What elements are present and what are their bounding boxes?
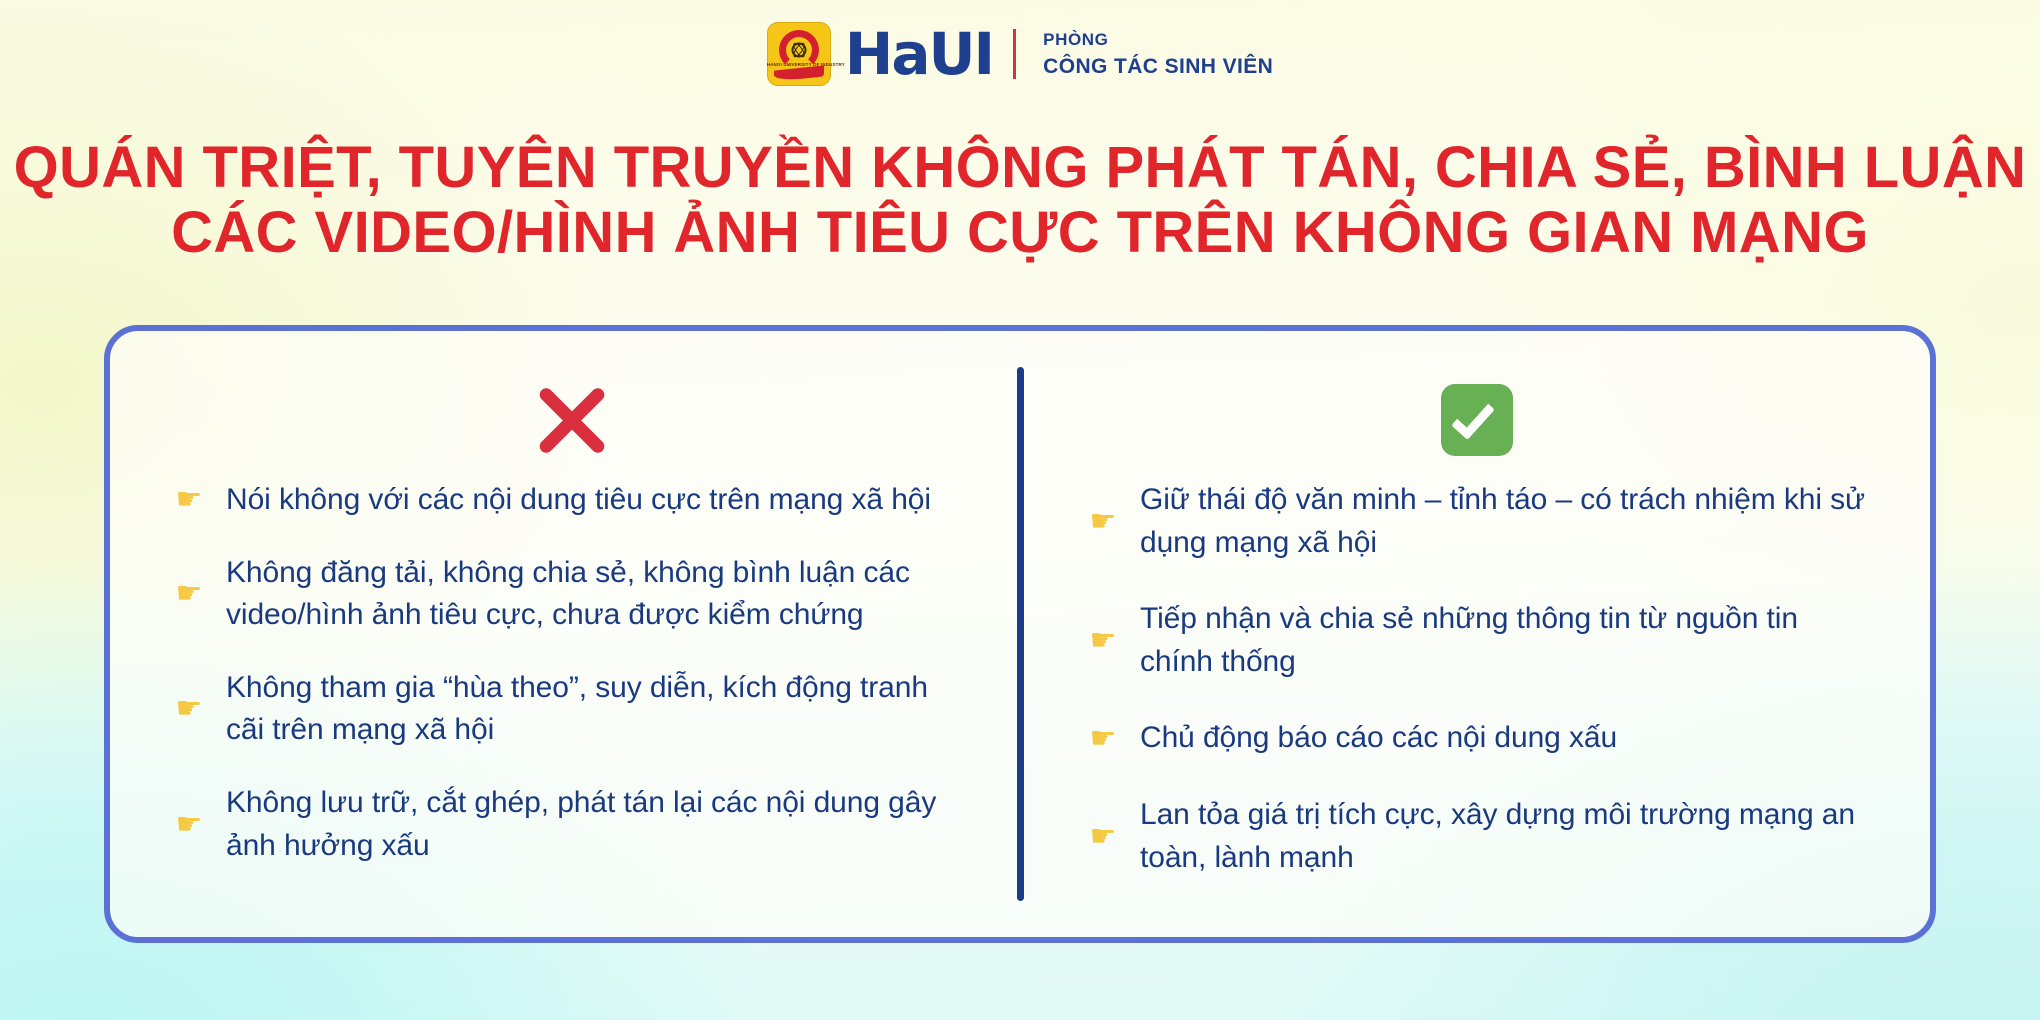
dont-list: ☛ Nói không với các nội dung tiêu cực tr… xyxy=(172,473,972,937)
red-x-icon xyxy=(535,383,609,457)
list-item: ☛ Không tham gia “hùa theo”, suy diễn, k… xyxy=(172,667,972,752)
brand-department: PHÒNG CÔNG TÁC SINH VIÊN xyxy=(1043,30,1273,79)
page-title-line-1: QUÁN TRIỆT, TUYÊN TRUYỀN KHÔNG PHÁT TÁN,… xyxy=(0,136,2040,201)
list-item-text: Lan tỏa giá trị tích cực, xây dựng môi t… xyxy=(1140,794,1868,879)
list-item: ☛ Giữ thái độ văn minh – tỉnh táo – có t… xyxy=(1086,479,1868,564)
list-item: ☛ Không đăng tải, không chia sẻ, không b… xyxy=(172,552,972,637)
dont-column: ☛ Nói không với các nội dung tiêu cực tr… xyxy=(110,331,1020,937)
brand-wordmark: HaUI xyxy=(845,25,993,83)
green-check-icon xyxy=(1441,384,1513,456)
brand-divider xyxy=(1013,29,1016,79)
list-item: ☛ Không lưu trữ, cắt ghép, phát tán lại … xyxy=(172,782,972,867)
dont-badge-row xyxy=(172,367,972,473)
poster-root: HANOI UNIVERSITY OF INDUSTRY HaUI PHÒNG … xyxy=(0,0,2040,1020)
department-line-1: PHÒNG xyxy=(1043,30,1273,50)
do-list: ☛ Giữ thái độ văn minh – tỉnh táo – có t… xyxy=(1086,473,1868,937)
content-card: ☛ Nói không với các nội dung tiêu cực tr… xyxy=(104,325,1936,943)
list-item-text: Nói không với các nội dung tiêu cực trên… xyxy=(226,479,931,522)
pointing-hand-right-icon: ☛ xyxy=(1086,822,1120,852)
list-item-text: Chủ động báo cáo các nội dung xấu xyxy=(1140,717,1617,760)
pointing-hand-right-icon: ☛ xyxy=(172,579,206,609)
header-logo-bar: HANOI UNIVERSITY OF INDUSTRY HaUI PHÒNG … xyxy=(0,22,2040,86)
list-item-text: Tiếp nhận và chia sẻ những thông tin từ … xyxy=(1140,598,1868,683)
pointing-hand-right-icon: ☛ xyxy=(172,485,206,515)
pointing-hand-right-icon: ☛ xyxy=(1086,507,1120,537)
list-item-text: Không đăng tải, không chia sẻ, không bìn… xyxy=(226,552,972,637)
department-line-2: CÔNG TÁC SINH VIÊN xyxy=(1043,55,1273,79)
pointing-hand-right-icon: ☛ xyxy=(172,694,206,724)
list-item: ☛ Chủ động báo cáo các nội dung xấu xyxy=(1086,717,1868,760)
list-item-text: Không tham gia “hùa theo”, suy diễn, kíc… xyxy=(226,667,972,752)
list-item: ☛ Nói không với các nội dung tiêu cực tr… xyxy=(172,479,972,522)
list-item: ☛ Lan tỏa giá trị tích cực, xây dựng môi… xyxy=(1086,794,1868,879)
brand-lockup: HANOI UNIVERSITY OF INDUSTRY HaUI PHÒNG … xyxy=(767,22,1273,86)
list-item: ☛ Tiếp nhận và chia sẻ những thông tin t… xyxy=(1086,598,1868,683)
list-item-text: Không lưu trữ, cắt ghép, phát tán lại cá… xyxy=(226,782,972,867)
do-column: ☛ Giữ thái độ văn minh – tỉnh táo – có t… xyxy=(1020,331,1930,937)
pointing-hand-right-icon: ☛ xyxy=(172,810,206,840)
pointing-hand-right-icon: ☛ xyxy=(1086,626,1120,656)
do-badge-row xyxy=(1086,367,1868,473)
page-title: QUÁN TRIỆT, TUYÊN TRUYỀN KHÔNG PHÁT TÁN,… xyxy=(0,136,2040,266)
pointing-hand-right-icon: ☛ xyxy=(1086,724,1120,754)
page-title-line-2: CÁC VIDEO/HÌNH ẢNH TIÊU CỰC TRÊN KHÔNG G… xyxy=(0,201,2040,266)
list-item-text: Giữ thái độ văn minh – tỉnh táo – có trá… xyxy=(1140,479,1868,564)
emblem-atom-icon xyxy=(791,43,806,58)
emblem-swoosh-icon xyxy=(774,65,824,81)
haui-emblem-icon: HANOI UNIVERSITY OF INDUSTRY xyxy=(767,22,831,86)
